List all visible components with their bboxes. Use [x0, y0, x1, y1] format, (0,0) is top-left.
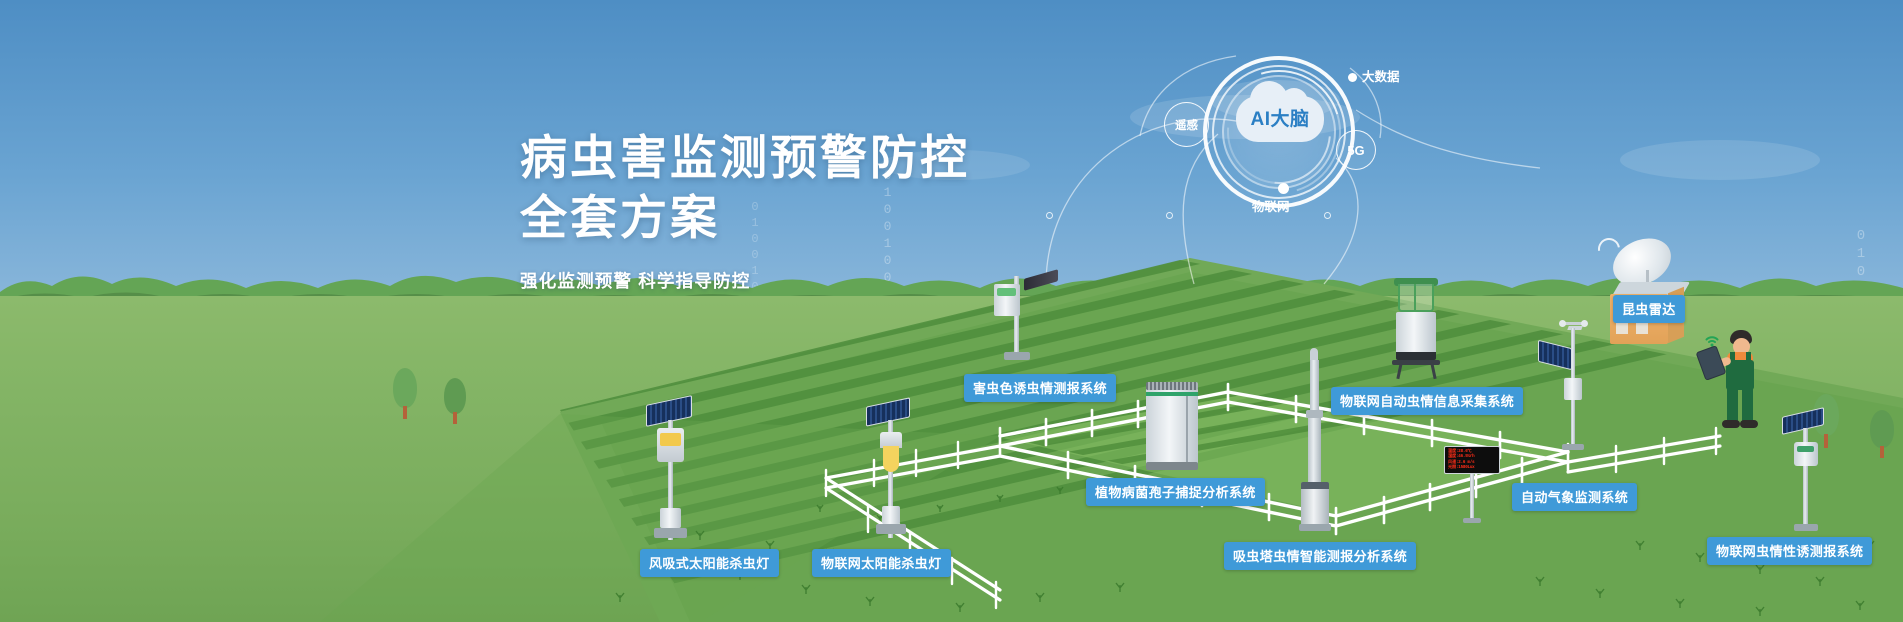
label-iot-solar-lamp[interactable]: 物联网太阳能杀虫灯: [812, 549, 951, 577]
device-iot-solar-lamp[interactable]: [862, 402, 922, 550]
farmer-leg: [1742, 386, 1753, 422]
weather-base: [1562, 444, 1584, 450]
pheromone-base: [1794, 524, 1818, 531]
collector-leg: [1396, 363, 1402, 379]
farmer-boot: [1722, 420, 1740, 428]
node-remote-sensing-label: 遥感: [1175, 117, 1198, 133]
led-row-temperature: 温度:28.6℃: [1448, 450, 1496, 454]
anemometer-cup: [1559, 320, 1566, 327]
lamp-base: [876, 524, 906, 534]
wind-vane: [1567, 326, 1582, 330]
weather-solar-panel: [1538, 340, 1572, 370]
spore-green-stripe: [1146, 392, 1198, 396]
led-row-humidity: 湿度:46.5%rh: [1448, 455, 1496, 459]
tower-lower-mast: [1308, 418, 1321, 484]
infographic-banner: 010010011010010 01001001101 010110101101…: [0, 0, 1903, 622]
radar-window: [1636, 322, 1648, 334]
collector-cage-bar: [1414, 284, 1416, 312]
led-row-light: 光照:1580Lux: [1448, 466, 1496, 470]
lamp-light: [883, 446, 899, 472]
tower-cabinet-dark-top: [1301, 482, 1329, 489]
farmer-leg: [1727, 386, 1738, 422]
trap-solar-head: [1024, 269, 1058, 291]
tower-foot: [1299, 524, 1331, 531]
tablet-device[interactable]: [1696, 345, 1727, 381]
tower-upper-mast: [1310, 360, 1319, 412]
label-insect-radar[interactable]: 昆虫雷达: [1613, 295, 1685, 323]
device-led-info-board[interactable]: 温度:28.6℃ 湿度:46.5%rh 风速:2.6 m/s 光照:1580Lu…: [1440, 446, 1510, 524]
spore-cabinet-top: [1146, 382, 1198, 390]
label-iot-pheromone-system[interactable]: 物联网虫情性诱测报系统: [1707, 537, 1872, 565]
farmer-strap: [1746, 352, 1751, 364]
node-big-data-dot: [1348, 73, 1357, 82]
spore-cabinet-base: [1146, 462, 1198, 470]
weather-sensor-shield: [1564, 378, 1582, 400]
node-5g[interactable]: 5G: [1336, 130, 1376, 170]
device-iot-pheromone-system[interactable]: [1778, 412, 1838, 540]
label-weather-station-system[interactable]: 自动气象监测系统: [1512, 483, 1637, 511]
wifi-signal-icon: [1704, 332, 1720, 348]
led-display-panel: 温度:28.6℃ 湿度:46.5%rh 风速:2.6 m/s 光照:1580Lu…: [1444, 446, 1500, 474]
node-endpoint-dot: [1166, 212, 1173, 219]
node-iot-label: 物联网: [1252, 196, 1290, 215]
node-endpoint-dot: [1324, 212, 1331, 219]
lamp-collector-bin: [660, 508, 681, 528]
ai-core-label: AI大脑: [1236, 104, 1324, 131]
led-board-base: [1463, 518, 1481, 523]
pheromone-indicator: [1797, 446, 1814, 452]
node-big-data-label: 大数据: [1362, 66, 1400, 85]
page-title-line-2: 全套方案: [520, 188, 970, 248]
device-suction-tower-system[interactable]: [1295, 348, 1337, 536]
lamp-collector-bin: [882, 506, 900, 524]
collector-leg: [1430, 363, 1436, 379]
collector-dark-band: [1396, 352, 1436, 360]
label-wind-suction-solar-lamp[interactable]: 风吸式太阳能杀虫灯: [640, 549, 779, 577]
trap-indicator: [997, 288, 1016, 296]
label-spore-capture-system[interactable]: 植物病菌孢子捕捉分析系统: [1086, 478, 1265, 506]
node-5g-label: 5G: [1347, 143, 1364, 158]
spore-cabinet-body: [1146, 388, 1198, 466]
cloud-shape: [1620, 140, 1820, 180]
device-wind-suction-solar-lamp[interactable]: [640, 400, 704, 550]
node-iot-dot: [1278, 183, 1289, 194]
lamp-light: [660, 433, 681, 446]
label-suction-tower-system[interactable]: 吸虫塔虫情智能测报分析系统: [1224, 542, 1416, 570]
lamp-base: [654, 528, 687, 538]
spore-door-seam: [1186, 396, 1188, 462]
tower-collar: [1306, 410, 1323, 418]
trap-base: [1004, 352, 1030, 360]
device-iot-insect-collect-system[interactable]: [1384, 278, 1454, 386]
device-insect-radar[interactable]: [1594, 238, 1702, 348]
ai-hub: AI大脑 遥感 5G 大数据 物联网: [1090, 28, 1510, 268]
device-color-trap-system[interactable]: [988, 272, 1064, 364]
label-iot-insect-collect-system[interactable]: 物联网自动虫情信息采集系统: [1331, 387, 1523, 415]
device-spore-capture-system[interactable]: [1146, 378, 1212, 474]
label-color-trap-system[interactable]: 害虫色诱虫情测报系统: [964, 374, 1116, 402]
farmer-boot: [1740, 420, 1758, 428]
node-endpoint-dot: [1046, 212, 1053, 219]
farmer-with-tablet: [1694, 330, 1774, 436]
led-row-wind: 风速:2.6 m/s: [1448, 461, 1496, 465]
radar-window: [1616, 322, 1628, 334]
node-remote-sensing[interactable]: 遥感: [1164, 102, 1209, 147]
page-title-line-1: 病虫害监测预警防控: [520, 128, 970, 188]
led-board-pole: [1470, 474, 1474, 520]
